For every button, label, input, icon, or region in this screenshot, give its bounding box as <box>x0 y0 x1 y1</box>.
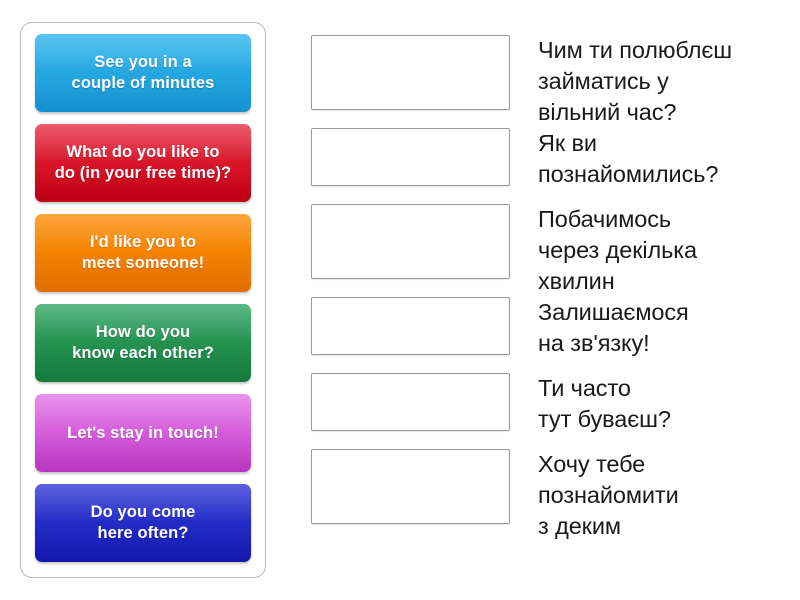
drop-zone[interactable] <box>311 204 510 279</box>
draggable-tile[interactable]: I'd like you to meet someone! <box>35 214 251 292</box>
draggable-tiles-panel: See you in a couple of minutes What do y… <box>20 22 266 578</box>
draggable-tile[interactable]: What do you like to do (in your free tim… <box>35 124 251 202</box>
answer-row: Хочу тебе познайомити з деким <box>311 449 781 533</box>
answer-row: Ти часто тут буваєш? <box>311 373 781 440</box>
draggable-tile[interactable]: Do you come here often? <box>35 484 251 562</box>
answer-row: Побачимось через декілька хвилин <box>311 204 781 288</box>
tile-label: What do you like to do (in your free tim… <box>55 142 231 183</box>
drop-zone[interactable] <box>311 449 510 524</box>
tile-label: How do you know each other? <box>72 322 214 363</box>
drop-zone[interactable] <box>311 373 510 431</box>
tile-label: Let's stay in touch! <box>67 423 219 444</box>
drop-zone[interactable] <box>311 297 510 355</box>
prompt-text: Ти часто тут буваєш? <box>510 373 781 435</box>
answer-row: Чим ти полюблєш займатись у вільний час? <box>311 35 781 119</box>
draggable-tile[interactable]: See you in a couple of minutes <box>35 34 251 112</box>
answer-rows: Чим ти полюблєш займатись у вільний час?… <box>311 35 781 542</box>
match-up-activity: See you in a couple of minutes What do y… <box>0 0 800 600</box>
draggable-tile[interactable]: Let's stay in touch! <box>35 394 251 472</box>
drop-zone[interactable] <box>311 128 510 186</box>
tile-label: Do you come here often? <box>91 502 196 543</box>
draggable-tile[interactable]: How do you know each other? <box>35 304 251 382</box>
tile-label: See you in a couple of minutes <box>72 52 215 93</box>
tile-label: I'd like you to meet someone! <box>82 232 204 273</box>
drop-zone[interactable] <box>311 35 510 110</box>
prompt-text: Побачимось через декілька хвилин <box>510 204 781 297</box>
answer-row: Як ви познайомились? <box>311 128 781 195</box>
answer-row: Залишаємося на зв'язку! <box>311 297 781 364</box>
prompt-text: Хочу тебе познайомити з деким <box>510 449 781 542</box>
prompt-text: Чим ти полюблєш займатись у вільний час? <box>510 35 781 128</box>
prompt-text: Як ви познайомились? <box>510 128 781 190</box>
prompt-text: Залишаємося на зв'язку! <box>510 297 781 359</box>
